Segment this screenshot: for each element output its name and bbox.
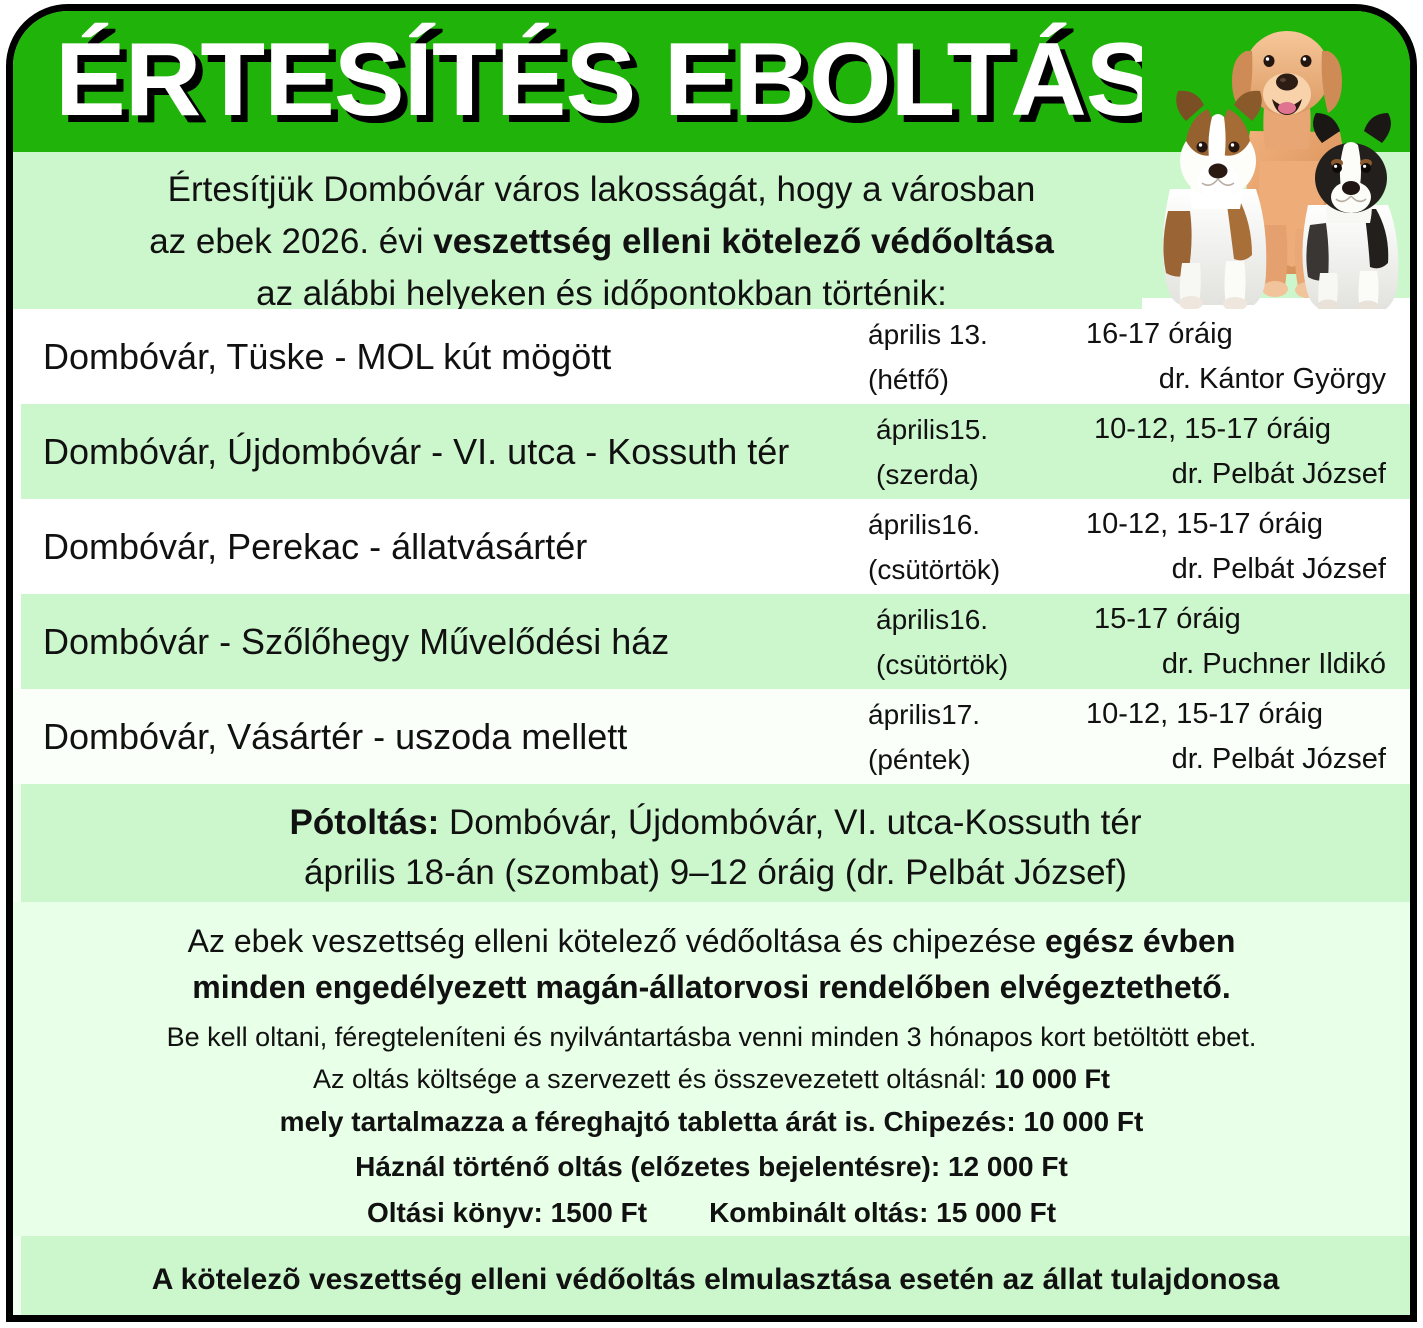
poster-header: ÉRTESÍTÉS EBOLTÁSRÓL bbox=[13, 11, 1410, 152]
schedule-weekday: (szerda) bbox=[876, 452, 1094, 497]
schedule-time: 16-17 óráig dr. Kántor György bbox=[1086, 309, 1410, 404]
schedule-veterinarian: dr. Pelbát József bbox=[1086, 737, 1386, 782]
schedule-date: április16. (csütörtök) bbox=[868, 499, 1086, 594]
schedule-date-value: április15. bbox=[876, 407, 1094, 452]
schedule-hours: 10-12, 15-17 óráig bbox=[1094, 407, 1386, 452]
schedule-date: április17. (péntek) bbox=[868, 689, 1086, 784]
schedule-weekday: (csütörtök) bbox=[876, 642, 1094, 687]
schedule-hours: 16-17 óráig bbox=[1086, 312, 1386, 357]
schedule-location: Dombóvár, Perekac - állatvásártér bbox=[13, 499, 868, 594]
info-line-4-prefix: Az oltás költsége a szervezett és összev… bbox=[313, 1064, 994, 1094]
schedule-time: 15-17 óráig dr. Puchner Ildikó bbox=[1094, 594, 1410, 689]
schedule-location: Dombóvár, Újdombóvár - VI. utca - Kossut… bbox=[21, 404, 876, 499]
general-info-block: Az ebek veszettség elleni kötelező védőo… bbox=[13, 902, 1410, 1236]
rabies-vaccination-notice-poster: ÉRTESÍTÉS EBOLTÁSRÓL Értesítjük Dombóvár… bbox=[0, 0, 1423, 1328]
table-row: Dombóvár, Újdombóvár - VI. utca - Kossut… bbox=[21, 404, 1410, 499]
penalty-warning-line-1: A kötelezõ veszettség elleni védőoltás e… bbox=[21, 1256, 1410, 1304]
info-line-3: Be kell oltani, féregteleníteni és nyilv… bbox=[13, 1016, 1410, 1058]
makeup-vaccination-line-1: Pótoltás: Dombóvár, Újdombóvár, VI. utca… bbox=[21, 798, 1410, 848]
table-row: Dombóvár, Vásártér - uszoda mellett ápri… bbox=[13, 689, 1410, 784]
info-line-6: Háznál történő oltás (előzetes bejelenté… bbox=[13, 1144, 1410, 1190]
schedule-date: április16. (csütörtök) bbox=[876, 594, 1094, 689]
poster-frame: ÉRTESÍTÉS EBOLTÁSRÓL Értesítjük Dombóvár… bbox=[6, 4, 1417, 1322]
schedule-hours: 10-12, 15-17 óráig bbox=[1086, 692, 1386, 737]
intro-block: Értesítjük Dombóvár város lakosságát, ho… bbox=[13, 152, 1410, 309]
makeup-vaccination-line-2: április 18-án (szombat) 9–12 óráig (dr. … bbox=[21, 848, 1410, 898]
makeup-vaccination-location: Dombóvár, Újdombóvár, VI. utca-Kossuth t… bbox=[439, 803, 1141, 842]
info-price-combined: Kombinált oltás: 15 000 Ft bbox=[709, 1197, 1056, 1228]
info-line-4: Az oltás költsége a szervezett és összev… bbox=[13, 1058, 1410, 1100]
makeup-vaccination-block: Pótoltás: Dombóvár, Újdombóvár, VI. utca… bbox=[21, 784, 1410, 902]
vaccination-schedule-table: Dombóvár, Tüske - MOL kút mögött április… bbox=[13, 309, 1410, 784]
schedule-date: április15. (szerda) bbox=[876, 404, 1094, 499]
schedule-weekday: (péntek) bbox=[868, 737, 1086, 782]
page-title: ÉRTESÍTÉS EBOLTÁSRÓL bbox=[55, 15, 1376, 145]
info-line-7: Oltási könyv: 1500 FtKombinált oltás: 15… bbox=[13, 1190, 1410, 1236]
schedule-hours: 10-12, 15-17 óráig bbox=[1086, 502, 1386, 547]
table-row: Dombóvár, Tüske - MOL kút mögött április… bbox=[13, 309, 1410, 404]
info-price-vaccination-book: Oltási könyv: 1500 Ft bbox=[367, 1197, 647, 1228]
penalty-warning-block: A kötelezõ veszettség elleni védőoltás e… bbox=[21, 1236, 1410, 1322]
schedule-time: 10-12, 15-17 óráig dr. Pelbát József bbox=[1086, 499, 1410, 594]
schedule-date-value: április16. bbox=[868, 502, 1086, 547]
info-line-1-prefix: Az ebek veszettség elleni kötelező védőo… bbox=[188, 923, 1045, 959]
schedule-veterinarian: dr. Puchner Ildikó bbox=[1094, 642, 1386, 687]
intro-line-2-prefix: az ebek 2026. évi bbox=[149, 222, 433, 261]
schedule-veterinarian: dr. Kántor György bbox=[1086, 357, 1386, 402]
schedule-time: 10-12, 15-17 óráig dr. Pelbát József bbox=[1094, 404, 1410, 499]
schedule-location: Dombóvár, Vásártér - uszoda mellett bbox=[13, 689, 868, 784]
schedule-time: 10-12, 15-17 óráig dr. Pelbát József bbox=[1086, 689, 1410, 784]
schedule-date: április 13. (hétfő) bbox=[868, 309, 1086, 404]
table-row: Dombóvár, Perekac - állatvásártér áprili… bbox=[13, 499, 1410, 594]
info-price-organized: 10 000 Ft bbox=[994, 1064, 1110, 1094]
table-row: Dombóvár - Szőlőhegy Művelődési ház ápri… bbox=[21, 594, 1410, 689]
schedule-date-value: április 13. bbox=[868, 312, 1086, 357]
info-line-1-emphasis: egész évben bbox=[1045, 923, 1235, 959]
info-line-5: mely tartalmazza a féreghajtó tabletta á… bbox=[13, 1100, 1410, 1144]
schedule-veterinarian: dr. Pelbát József bbox=[1086, 547, 1386, 592]
intro-line-2: az ebek 2026. évi veszettség elleni köte… bbox=[13, 216, 1410, 268]
info-line-2: minden engedélyezett magán-állatorvosi r… bbox=[53, 964, 1370, 1010]
info-line-1: Az ebek veszettség elleni kötelező védőo… bbox=[63, 918, 1360, 964]
schedule-veterinarian: dr. Pelbát József bbox=[1094, 452, 1386, 497]
intro-line-2-emphasis: veszettség elleni kötelező védőoltása bbox=[433, 222, 1054, 261]
schedule-weekday: (csütörtök) bbox=[868, 547, 1086, 592]
penalty-warning-line-2: minimum 75.000 Ft bírsággal sújtható)! bbox=[21, 1304, 1410, 1322]
intro-line-1: Értesítjük Dombóvár város lakosságát, ho… bbox=[13, 164, 1410, 216]
schedule-date-value: április16. bbox=[876, 597, 1094, 642]
schedule-location: Dombóvár - Szőlőhegy Művelődési ház bbox=[21, 594, 876, 689]
schedule-date-value: április17. bbox=[868, 692, 1086, 737]
schedule-weekday: (hétfő) bbox=[868, 357, 1086, 402]
schedule-hours: 15-17 óráig bbox=[1094, 597, 1386, 642]
makeup-vaccination-label: Pótoltás: bbox=[290, 803, 440, 842]
schedule-location: Dombóvár, Tüske - MOL kút mögött bbox=[13, 309, 868, 404]
